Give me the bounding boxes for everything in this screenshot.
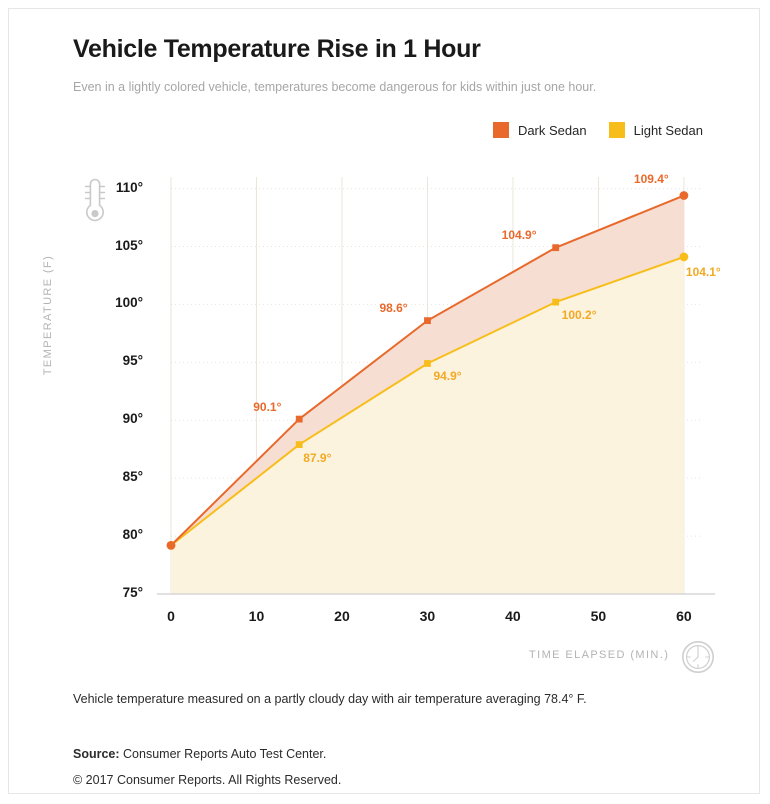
source-text: Consumer Reports Auto Test Center. [123,747,326,761]
data-label-dark-30: 98.6° [379,301,407,315]
x-axis-tick-0: 0 [151,608,191,624]
chart-legend: Dark Sedan Light Sedan [493,122,703,138]
y-axis-tick-95: 95° [83,353,143,368]
y-axis-tick-75: 75° [83,585,143,600]
chart-card: Vehicle Temperature Rise in 1 Hour Even … [8,8,760,794]
y-axis-tick-105: 105° [83,238,143,253]
x-axis-tick-20: 20 [322,608,362,624]
legend-label-light-sedan: Light Sedan [634,123,703,138]
legend-item-dark-sedan[interactable]: Dark Sedan [493,122,587,138]
x-axis-tick-60: 60 [664,608,704,624]
legend-item-light-sedan[interactable]: Light Sedan [609,122,703,138]
data-label-light-30: 94.9° [433,369,461,383]
x-axis-tick-50: 50 [578,608,618,624]
y-axis-tick-90: 90° [83,411,143,426]
y-axis-tick-110: 110° [83,180,143,195]
y-axis-tick-80: 80° [83,527,143,542]
source-line: Source: Consumer Reports Auto Test Cente… [73,747,326,761]
x-axis-tick-40: 40 [493,608,533,624]
legend-swatch-light-sedan [609,122,625,138]
y-axis-tick-100: 100° [83,295,143,310]
y-axis-title: TEMPERATURE (F) [42,240,54,390]
x-axis-title: TIME ELAPSED (MIN.) [529,649,669,661]
data-label-dark-60: 109.4° [634,172,669,186]
legend-label-dark-sedan: Dark Sedan [518,123,587,138]
data-label-dark-15: 90.1° [253,400,281,414]
data-label-light-45: 100.2° [562,308,597,322]
copyright-line: © 2017 Consumer Reports. All Rights Rese… [73,773,341,787]
source-label: Source: [73,747,120,761]
x-axis-tick-10: 10 [236,608,276,624]
page-subtitle: Even in a lightly colored vehicle, tempe… [73,80,596,94]
legend-swatch-dark-sedan [493,122,509,138]
data-label-light-60: 104.1° [686,265,721,279]
x-axis-tick-30: 30 [407,608,447,624]
data-label-light-15: 87.9° [303,451,331,465]
page-title: Vehicle Temperature Rise in 1 Hour [73,35,481,64]
clock-icon [681,640,715,679]
data-label-dark-45: 104.9° [502,228,537,242]
chart-note: Vehicle temperature measured on a partly… [73,692,587,706]
y-axis-tick-85: 85° [83,469,143,484]
